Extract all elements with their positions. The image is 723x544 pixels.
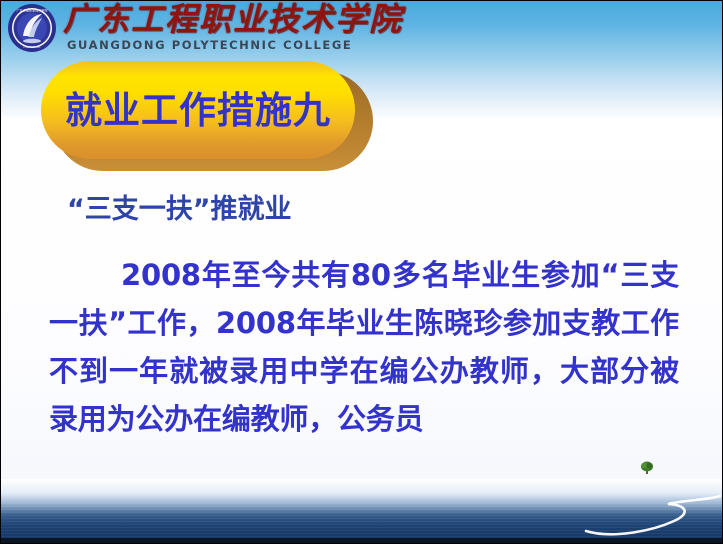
school-name-english: GUANGDONG POLYTECHNIC COLLEGE [67, 38, 352, 52]
school-crest-logo-icon: 广东工程职业技术学院 POLYTECHNIC [7, 3, 57, 53]
title-plaque-body: 就业工作措施九 [41, 61, 355, 159]
slide-subtitle: “三支一扶”推就业 [67, 187, 292, 226]
slide-title-text: 就业工作措施九 [65, 92, 331, 129]
svg-text:广东工程职业技术学院: 广东工程职业技术学院 [17, 7, 48, 12]
svg-text:POLYTECHNIC: POLYTECHNIC [23, 45, 40, 49]
presentation-slide: 广东工程职业技术学院 POLYTECHNIC 广东工程职业技术学院 GUANGD… [0, 0, 723, 544]
slide-body-paragraph: 2008年至今共有80多名毕业生参加“三支一扶”工作，2008年毕业生陈晓珍参加… [49, 251, 679, 443]
title-plaque: 就业工作措施九 [41, 61, 361, 163]
tree-icon [639, 459, 655, 475]
school-name-chinese: 广东工程职业技术学院 [63, 2, 403, 36]
slide-header: 广东工程职业技术学院 POLYTECHNIC 广东工程职业技术学院 GUANGD… [1, 1, 722, 59]
wave-swoosh-decoration [582, 491, 722, 541]
